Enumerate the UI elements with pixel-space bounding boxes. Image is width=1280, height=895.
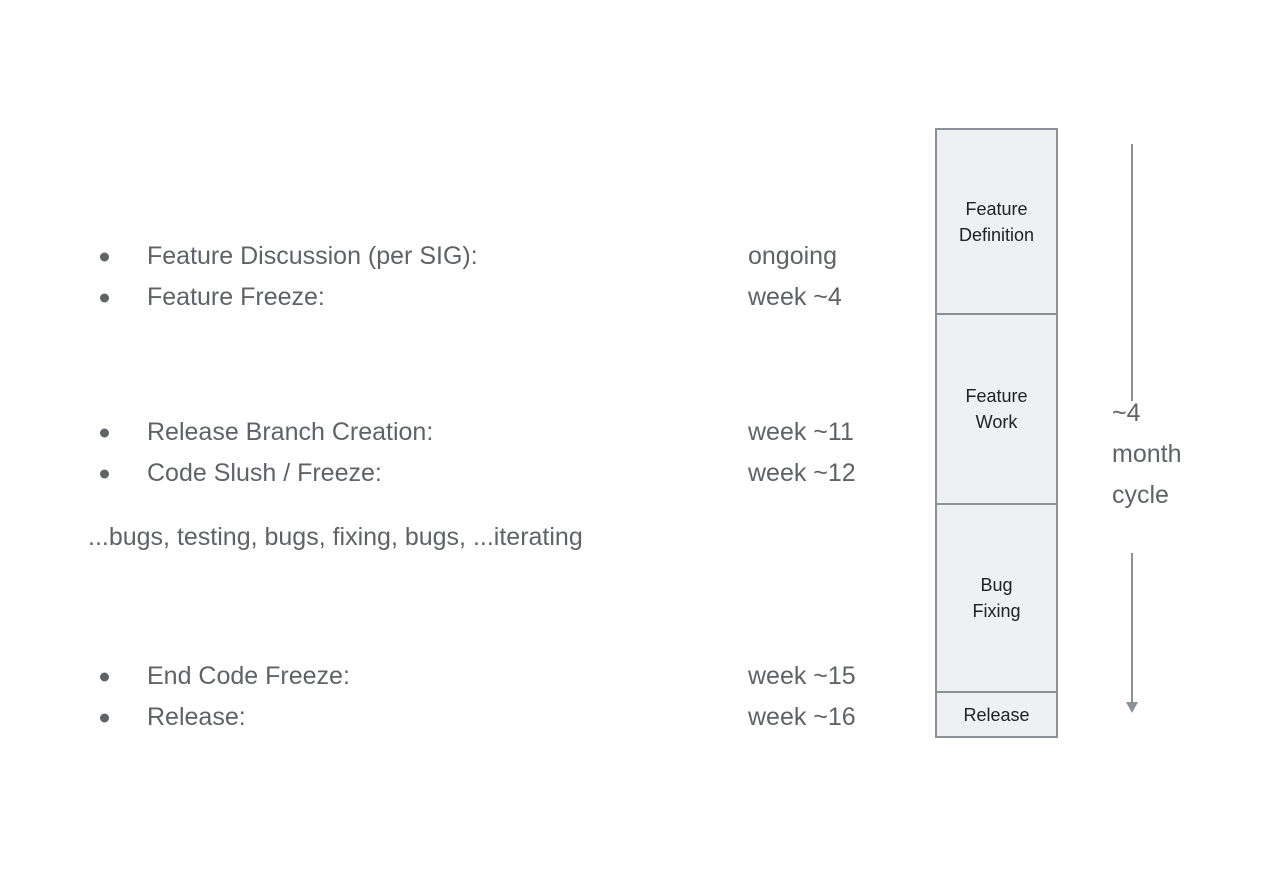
- cycle-label-line3: cycle: [1112, 481, 1169, 509]
- milestone-group-3: End Code Freeze: week ~15 Release: week …: [0, 656, 930, 738]
- milestone-value: ongoing: [748, 241, 837, 272]
- segment-label-line1: Feature: [965, 386, 1027, 406]
- bullet-icon: [100, 713, 109, 722]
- segment-feature-work: FeatureWork: [937, 315, 1056, 505]
- cycle-label-line2: month: [1112, 440, 1181, 468]
- milestone-label: Feature Discussion (per SIG):: [147, 241, 478, 272]
- cycle-label-line1: ~4: [1112, 399, 1141, 427]
- bullet-icon: [100, 293, 109, 302]
- segment-label: BugFixing: [972, 572, 1020, 624]
- arrow-down-icon: [1126, 702, 1138, 713]
- milestone-row: Release: week ~16: [0, 697, 930, 738]
- segment-label: FeatureWork: [965, 383, 1027, 435]
- slide-canvas: Feature Discussion (per SIG): ongoing Fe…: [0, 0, 1280, 895]
- segment-release: Release: [937, 693, 1056, 736]
- milestone-row: Feature Freeze: week ~4: [0, 277, 930, 318]
- segment-bug-fixing: BugFixing: [937, 505, 1056, 693]
- segment-label-line1: Feature: [965, 199, 1027, 219]
- milestone-label: End Code Freeze:: [147, 661, 350, 692]
- milestone-group-1: Feature Discussion (per SIG): ongoing Fe…: [0, 236, 930, 318]
- milestone-row: End Code Freeze: week ~15: [0, 656, 930, 697]
- arrow-line-lower: [1131, 553, 1133, 705]
- milestone-value: week ~11: [748, 417, 854, 448]
- milestone-label: Release Branch Creation:: [147, 417, 433, 448]
- segment-label-line1: Bug: [980, 575, 1012, 595]
- segment-label-line2: Definition: [959, 225, 1034, 245]
- milestone-value: week ~12: [748, 458, 856, 489]
- milestone-row: Code Slush / Freeze: week ~12: [0, 453, 930, 494]
- bullet-icon: [100, 428, 109, 437]
- milestone-group-2: Release Branch Creation: week ~11 Code S…: [0, 412, 930, 494]
- milestone-row: Release Branch Creation: week ~11: [0, 412, 930, 453]
- iterating-note: ...bugs, testing, bugs, fixing, bugs, ..…: [88, 522, 583, 553]
- segment-label: FeatureDefinition: [959, 196, 1034, 248]
- milestone-label: Code Slush / Freeze:: [147, 458, 382, 489]
- cycle-duration-label: ~4monthcycle: [1112, 393, 1181, 516]
- bullet-icon: [100, 469, 109, 478]
- milestone-label: Release:: [147, 702, 246, 733]
- milestone-list: Feature Discussion (per SIG): ongoing Fe…: [0, 0, 930, 895]
- release-cycle-bar: FeatureDefinition FeatureWork BugFixing …: [935, 128, 1058, 738]
- arrow-line-upper: [1131, 144, 1133, 401]
- segment-label: Release: [963, 702, 1029, 728]
- milestone-label: Feature Freeze:: [147, 282, 325, 313]
- milestone-value: week ~15: [748, 661, 856, 692]
- segment-feature-definition: FeatureDefinition: [937, 130, 1056, 315]
- milestone-row: Feature Discussion (per SIG): ongoing: [0, 236, 930, 277]
- segment-label-line2: Work: [976, 412, 1018, 432]
- bullet-icon: [100, 252, 109, 261]
- milestone-value: week ~16: [748, 702, 856, 733]
- bullet-icon: [100, 672, 109, 681]
- milestone-value: week ~4: [748, 282, 842, 313]
- segment-label-line2: Fixing: [972, 601, 1020, 621]
- cycle-duration-annotation: ~4monthcycle: [1090, 128, 1250, 738]
